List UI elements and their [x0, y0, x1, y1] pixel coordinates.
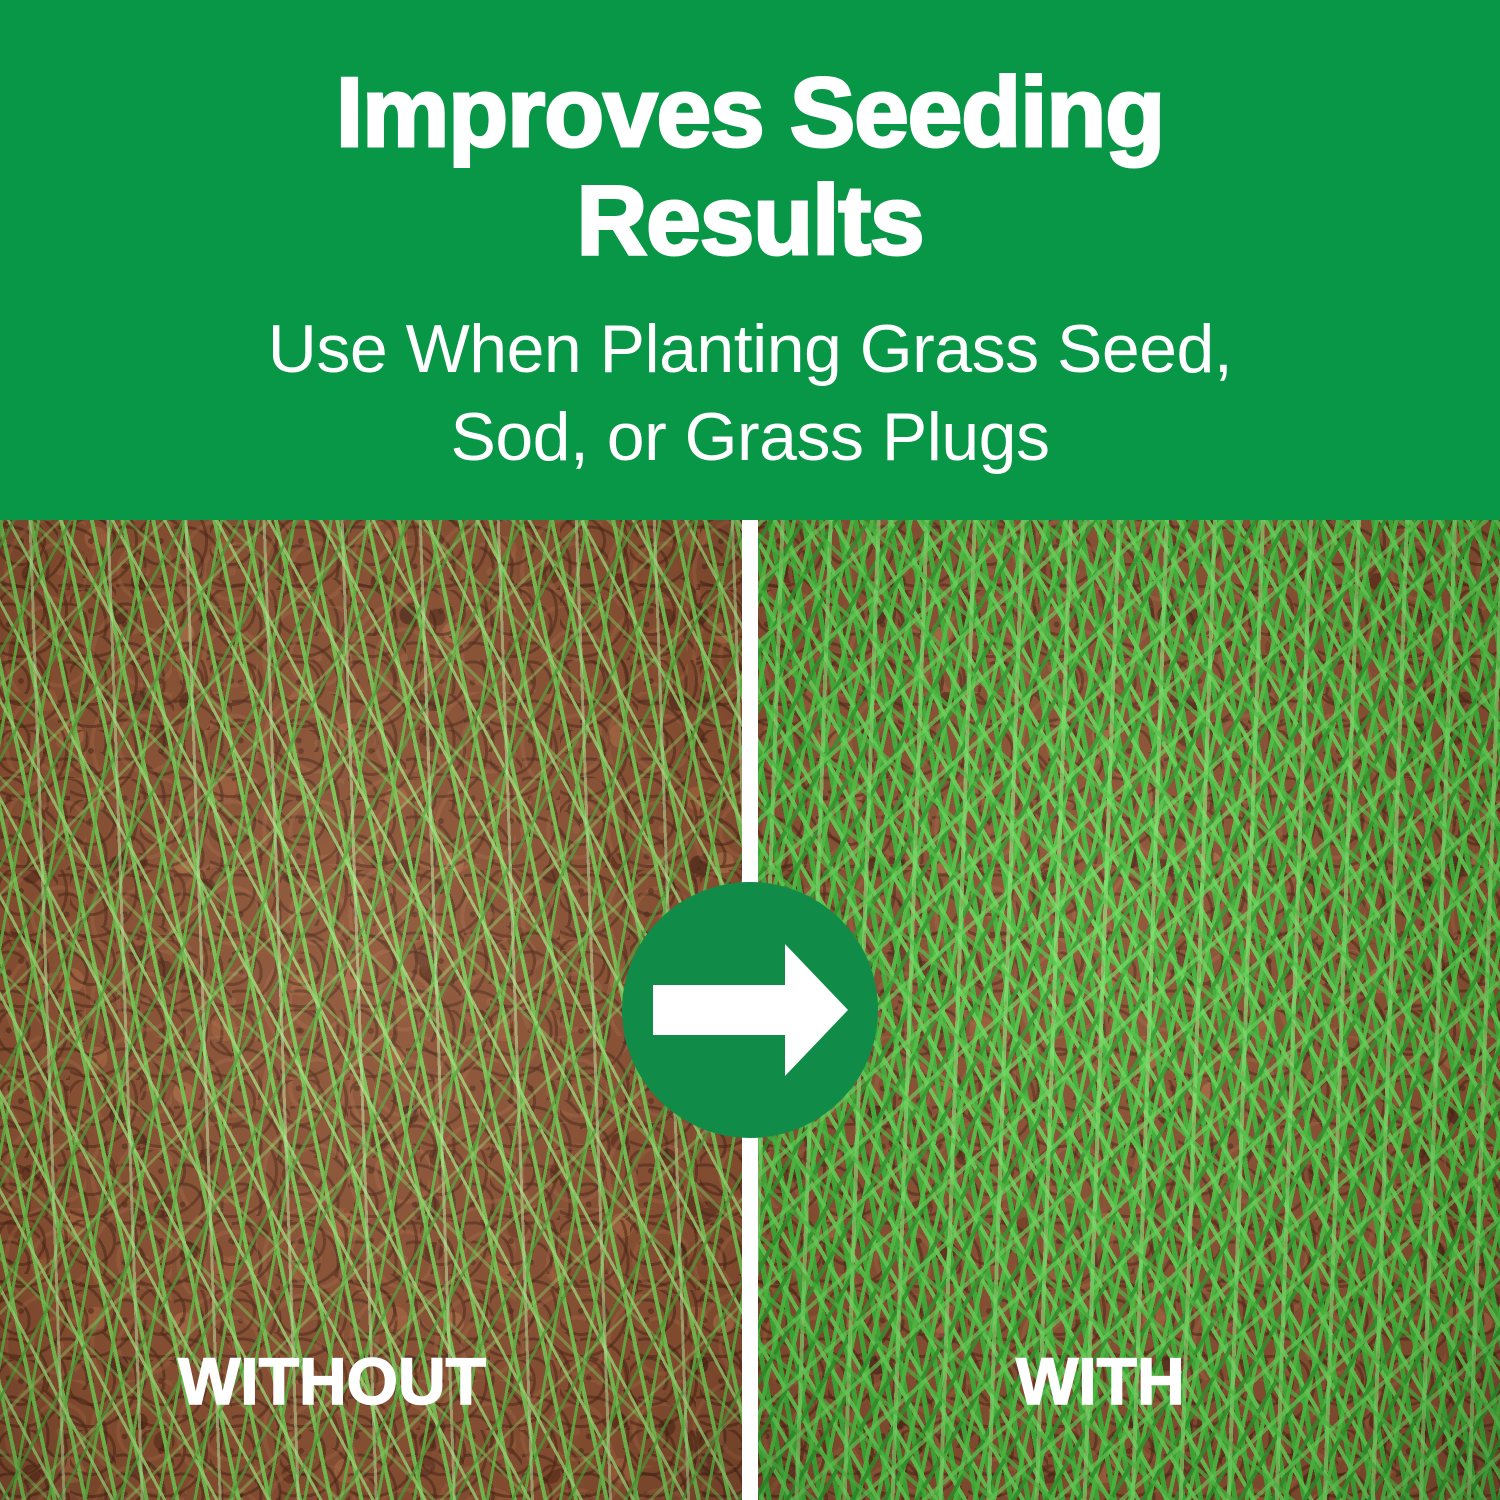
page-title: Improves Seeding Results — [0, 58, 1500, 274]
header-band: Improves Seeding Results Use When Planti… — [0, 0, 1500, 520]
page-subtitle-line-2: Sod, or Grass Plugs — [0, 393, 1500, 481]
product-feature-graphic: Improves Seeding Results Use When Planti… — [0, 0, 1500, 1500]
caption-without: WITHOUT — [178, 1348, 486, 1414]
caption-with: WITH — [1016, 1348, 1185, 1414]
page-subtitle-line-1: Use When Planting Grass Seed, — [0, 305, 1500, 393]
page-title-line-2: Results — [0, 166, 1500, 274]
page-title-line-1: Improves Seeding — [0, 58, 1500, 166]
page-subtitle: Use When Planting Grass Seed, Sod, or Gr… — [0, 305, 1500, 481]
arrow-right-icon — [622, 882, 878, 1138]
comparison-arrow-badge — [622, 882, 878, 1138]
